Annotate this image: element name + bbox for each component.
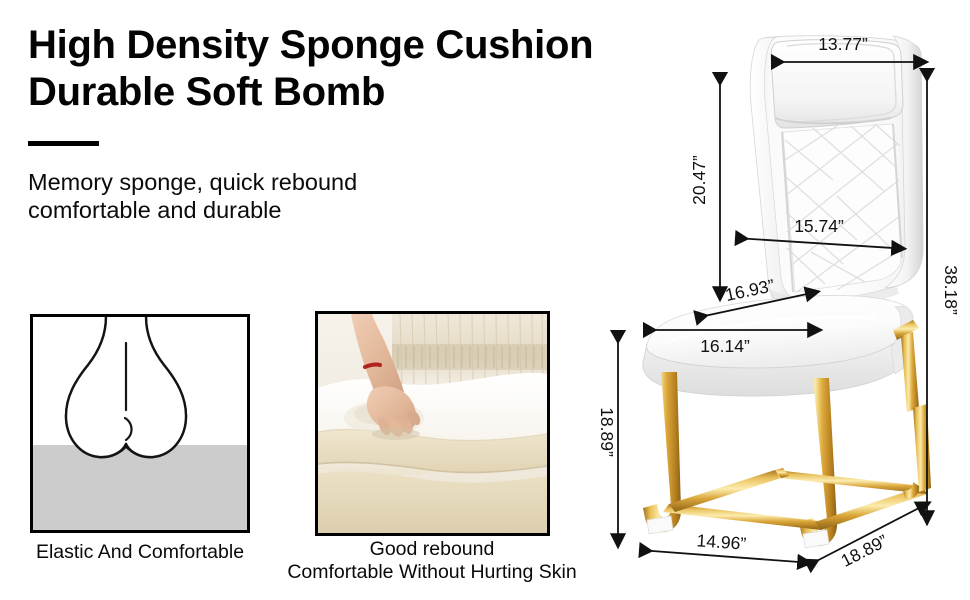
dimension-label-base-width: 14.96” [696, 530, 747, 553]
caption-line-2: Comfortable Without Hurting Skin [282, 561, 582, 584]
chair-dimension-diagram: 13.77” 20.47” 15.74” 16.93” 16.14” [575, 0, 970, 600]
product-infographic: High Density Sponge Cushion Durable Soft… [0, 0, 970, 600]
dimension-seat-height: 18.89” [597, 330, 618, 535]
dimension-label-backrest-width: 13.77” [818, 34, 868, 54]
page-subtitle-line-1: Memory sponge, quick rebound [28, 168, 588, 196]
chair-dimension-svg: 13.77” 20.47” 15.74” 16.93” 16.14” [575, 0, 970, 600]
page-subtitle-line-2: comfortable and durable [28, 196, 588, 224]
caption-line-1: Elastic And Comfortable [30, 541, 250, 564]
page-subtitle: Memory sponge, quick rebound comfortable… [28, 168, 588, 224]
chair-illustration [643, 36, 931, 548]
dimension-label-backrest-height: 20.47” [689, 155, 709, 205]
dimension-total-height: 38.18” [927, 68, 961, 512]
feature-caption-good-rebound: Good rebound Comfortable Without Hurting… [282, 538, 582, 584]
dimension-label-seat-height: 18.89” [597, 407, 617, 457]
body-on-cushion-sketch-icon [33, 317, 247, 530]
hand-pressing-foam-photo-icon [318, 314, 547, 533]
feature-panel-good-rebound [315, 311, 550, 536]
title-divider [28, 141, 99, 146]
dimension-label-back-panel-width: 15.74” [794, 216, 844, 236]
feature-caption-elastic-comfort: Elastic And Comfortable [30, 541, 250, 564]
caption-line-1: Good rebound [282, 538, 582, 561]
dimension-label-total-height: 38.18” [941, 265, 961, 315]
dimension-label-seat-width: 16.14” [700, 336, 750, 356]
dimension-base-width: 14.96” [639, 530, 799, 562]
feature-panel-elastic-comfort [30, 314, 250, 533]
dimension-backrest-height: 20.47” [689, 72, 720, 288]
